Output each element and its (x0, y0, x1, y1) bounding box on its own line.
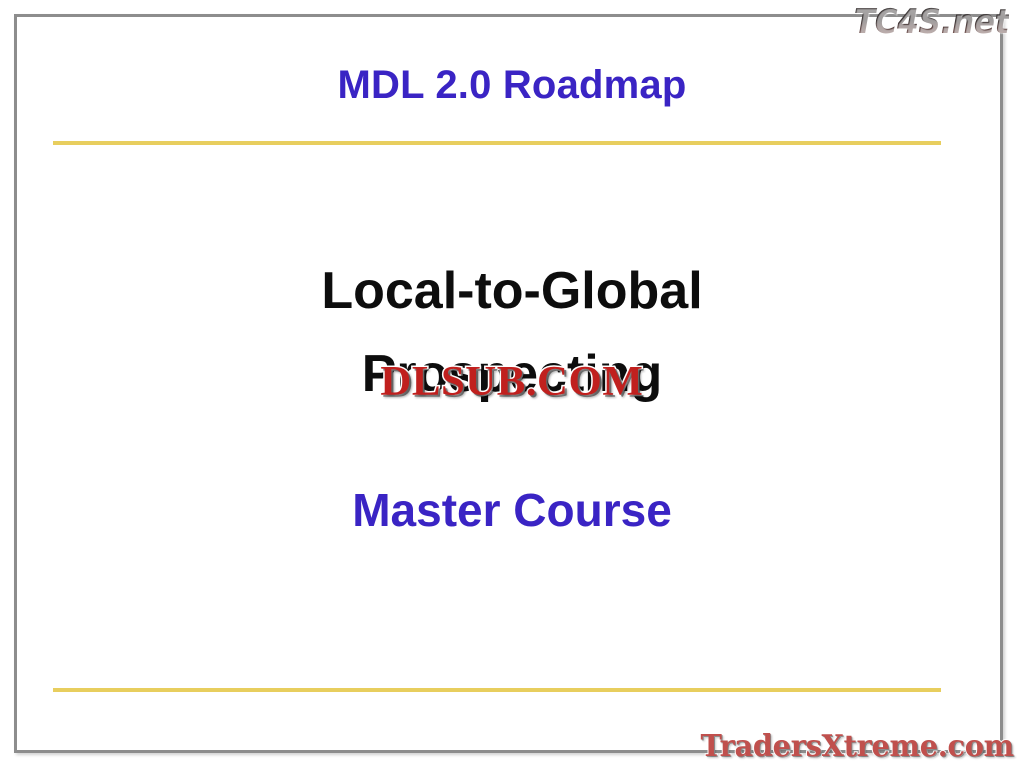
divider-rule-bottom (53, 688, 941, 692)
headline-line-1: Local-to-Global (0, 265, 1024, 317)
page-title: MDL 2.0 Roadmap (0, 62, 1024, 108)
subheadline: Master Course (0, 487, 1024, 533)
headline-line-2: Prospecting (0, 348, 1024, 400)
presentation-slide: MDL 2.0 Roadmap Local-to-Global Prospect… (0, 0, 1024, 768)
divider-rule-top (53, 141, 941, 145)
